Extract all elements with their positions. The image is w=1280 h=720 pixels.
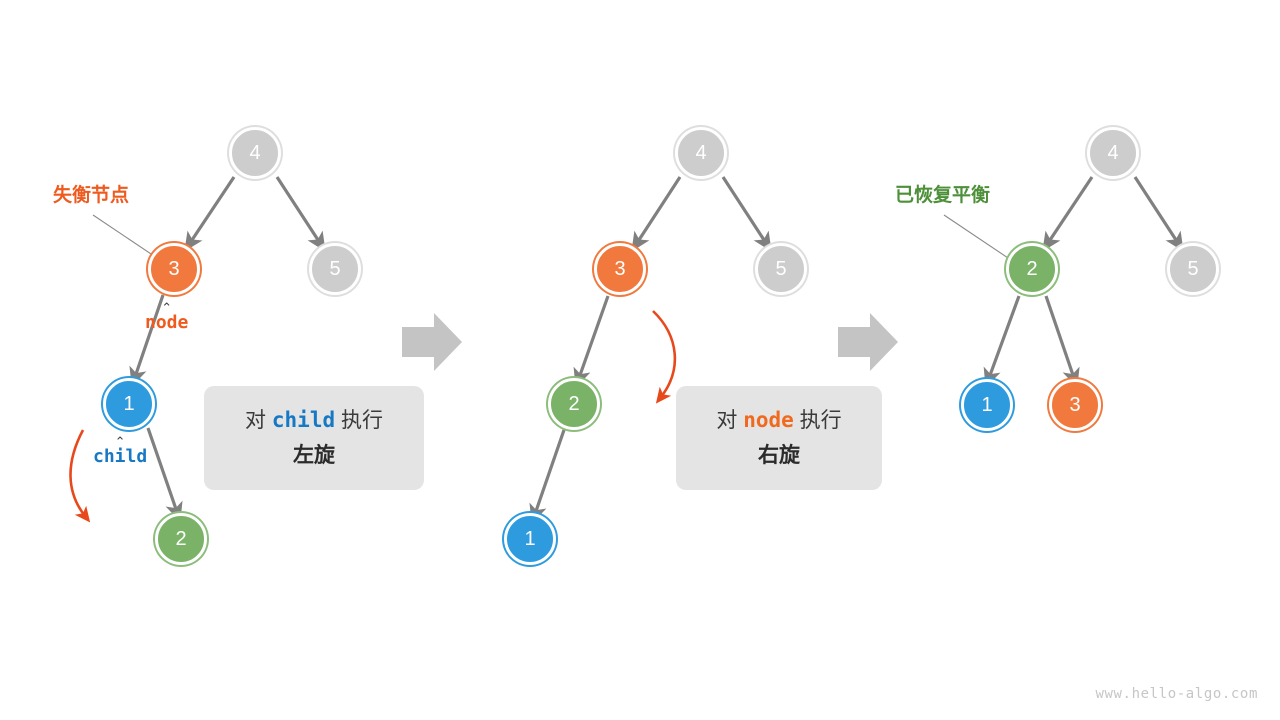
rotate-arrow-left [70, 430, 85, 516]
node-middle-2[interactable]: 2 [548, 378, 600, 430]
callout-unbalanced-node: 失衡节点 [53, 180, 129, 207]
op-suffix: 执行 [341, 409, 383, 432]
caret-icon: ⌃ [93, 437, 147, 446]
callout-leader-before [93, 215, 160, 260]
node-middle-4[interactable]: 4 [675, 127, 727, 179]
step-arrow-1 [402, 313, 462, 371]
step-arrow-2 [838, 313, 898, 371]
annotation-child: ⌃ child [93, 437, 147, 467]
operation-box-right-rotate: 对 node 执行 右旋 [676, 386, 882, 490]
node-middle-5[interactable]: 5 [755, 243, 807, 295]
annotation-node-label: node [145, 312, 188, 333]
node-before-2[interactable]: 2 [155, 513, 207, 565]
annotation-node: ⌃ node [145, 303, 188, 333]
operation-box-left-rotate: 对 child 执行 左旋 [204, 386, 424, 490]
op-target-node: node [743, 408, 794, 432]
op-rotation-right: 右旋 [702, 440, 856, 473]
rotate-arrow-right [653, 311, 675, 397]
callout-balanced: 已恢复平衡 [895, 180, 990, 207]
op-rotation-left: 左旋 [230, 440, 398, 473]
diagram-canvas: 失衡节点 4 3 5 1 2 ⌃ node ⌃ child 对 child 执行… [0, 0, 1280, 720]
op-prefix: 对 [716, 409, 737, 432]
node-after-1[interactable]: 1 [961, 379, 1013, 431]
caret-icon: ⌃ [145, 303, 188, 312]
node-before-5[interactable]: 5 [309, 243, 361, 295]
node-after-5[interactable]: 5 [1167, 243, 1219, 295]
watermark: www.hello-algo.com [1095, 686, 1258, 702]
node-middle-3[interactable]: 3 [594, 243, 646, 295]
node-middle-1[interactable]: 1 [504, 513, 556, 565]
node-after-2[interactable]: 2 [1006, 243, 1058, 295]
node-before-1[interactable]: 1 [103, 378, 155, 430]
annotation-child-label: child [93, 446, 147, 467]
node-before-3[interactable]: 3 [148, 243, 200, 295]
diagram-edges-layer [0, 0, 1280, 720]
callout-leader-after [944, 215, 1014, 262]
node-after-3[interactable]: 3 [1049, 379, 1101, 431]
op-target-child: child [272, 408, 335, 432]
op-prefix: 对 [245, 409, 266, 432]
node-before-4[interactable]: 4 [229, 127, 281, 179]
node-after-4[interactable]: 4 [1087, 127, 1139, 179]
op-suffix: 执行 [800, 409, 842, 432]
